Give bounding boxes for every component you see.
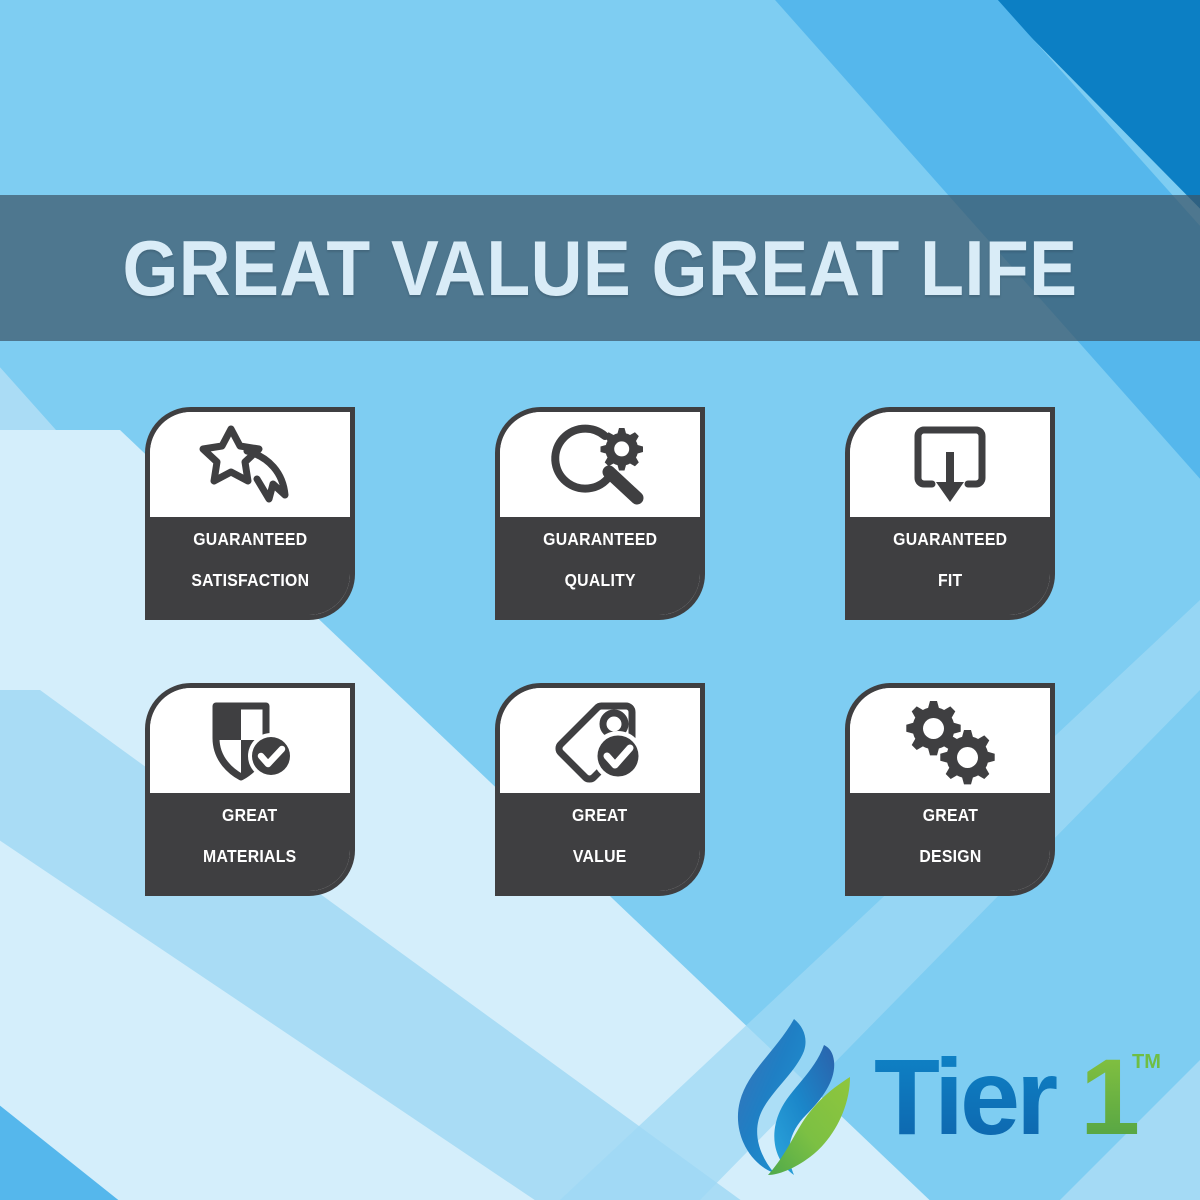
tier1-logo: Tier 1 TM	[718, 1012, 1168, 1182]
badge-label-line1: GREAT	[572, 805, 627, 826]
badge-label-line2: SATISFACTION	[191, 570, 309, 591]
shooting-star-icon	[195, 421, 305, 509]
badge-icon-area	[500, 688, 700, 793]
badge-icon-area	[150, 688, 350, 793]
badge-label-line1: GUARANTEED	[543, 529, 657, 550]
gears-icon	[898, 697, 1002, 785]
badge-icon-area	[850, 688, 1050, 793]
badge-guaranteed-quality[interactable]: GUARANTEED QUALITY	[495, 407, 705, 620]
badge-guaranteed-fit[interactable]: GUARANTEED FIT	[845, 407, 1055, 620]
svg-text:Tier: Tier	[874, 1042, 1057, 1152]
badge-great-materials[interactable]: GREAT MATERIALS	[145, 683, 355, 896]
tier1-wordmark-text: Tier 1 TM	[874, 1042, 1162, 1152]
badge-label-line1: GREAT	[919, 805, 981, 826]
shield-check-icon	[202, 698, 298, 784]
badge-icon-area	[850, 412, 1050, 517]
tier1-wordmark: Tier 1 TM	[874, 1042, 1162, 1152]
badge-label: GREAT VALUE	[500, 793, 700, 891]
magnifier-gear-icon	[547, 422, 653, 508]
badge-label: GUARANTEED QUALITY	[500, 517, 700, 615]
badge-icon-area	[500, 412, 700, 517]
badge-great-design[interactable]: GREAT DESIGN	[845, 683, 1055, 896]
price-tag-check-icon	[548, 698, 652, 784]
badge-label-line2: MATERIALS	[203, 846, 296, 867]
badge-great-value[interactable]: GREAT VALUE	[495, 683, 705, 896]
badge-label-line1: GUARANTEED	[893, 529, 1007, 550]
badge-label-line2: QUALITY	[543, 570, 657, 591]
page-title: GREAT VALUE GREAT LIFE	[123, 229, 1078, 307]
badge-label-line1: GUARANTEED	[191, 529, 309, 550]
insert-arrow-icon	[910, 422, 990, 508]
badge-icon-area	[150, 412, 350, 517]
badge-label: GUARANTEED SATISFACTION	[150, 517, 350, 615]
badge-guaranteed-satisfaction[interactable]: GUARANTEED SATISFACTION	[145, 407, 355, 620]
badge-label-line2: FIT	[893, 570, 1007, 591]
badge-label-line2: VALUE	[572, 846, 627, 867]
flame-leaf-droplet-icon	[718, 1015, 868, 1180]
badge-label: GREAT DESIGN	[850, 793, 1050, 891]
badge-label-line2: DESIGN	[919, 846, 981, 867]
headline-banner: GREAT VALUE GREAT LIFE	[0, 195, 1200, 341]
badge-label-line1: GREAT	[203, 805, 296, 826]
badge-label: GUARANTEED FIT	[850, 517, 1050, 615]
feature-badge-grid: GUARANTEED SATISFACTION GUARANTEED QUALI…	[145, 407, 1055, 896]
badge-label: GREAT MATERIALS	[150, 793, 350, 891]
svg-text:TM: TM	[1132, 1051, 1161, 1073]
